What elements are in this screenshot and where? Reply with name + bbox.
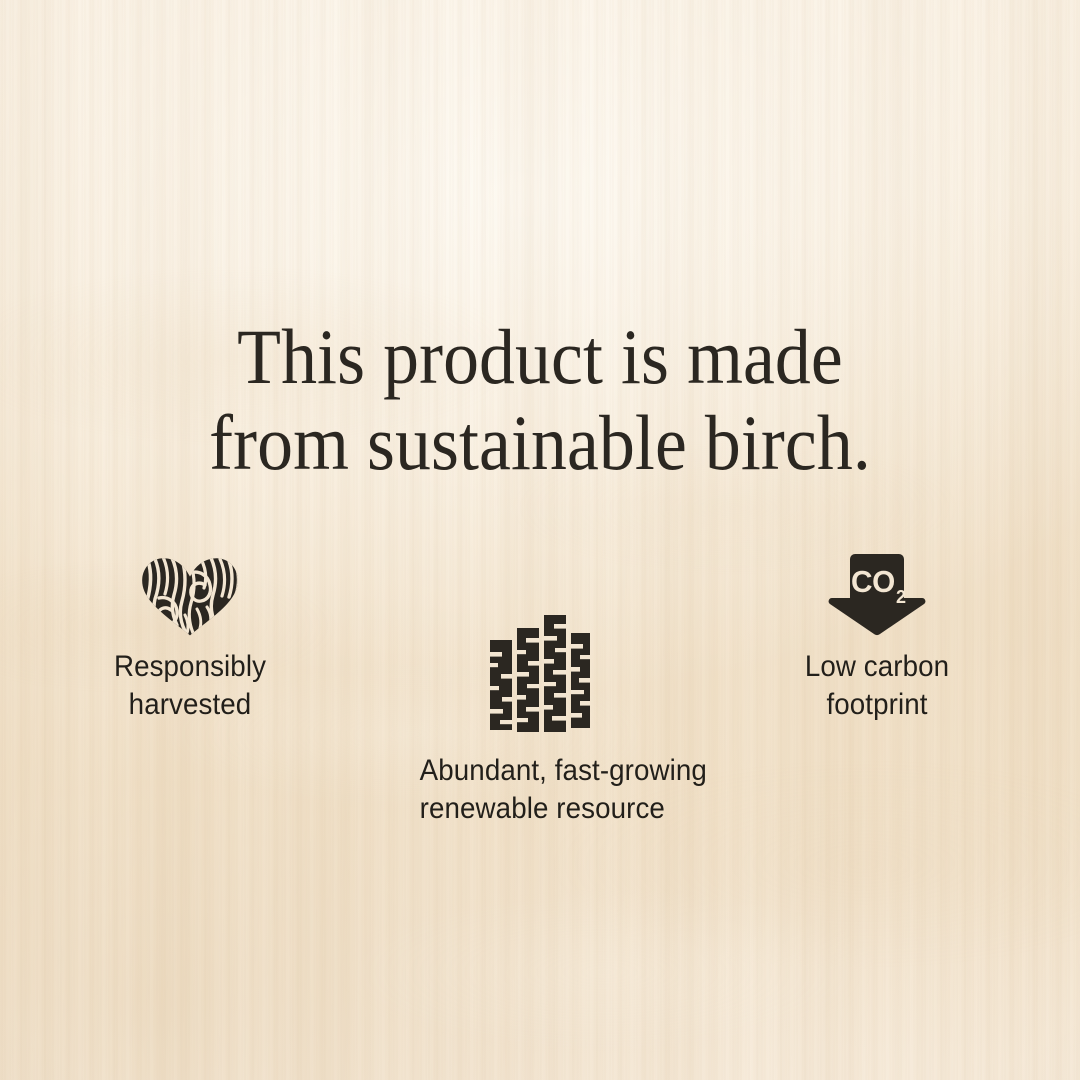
headline-line-1: This product is made xyxy=(43,314,1037,400)
headline-line-2: from sustainable birch. xyxy=(43,400,1037,486)
feature-row: Responsibly harvested xyxy=(0,540,1080,860)
co2-main-text: CO xyxy=(851,564,895,599)
feature-label: Low carbon footprint xyxy=(757,648,998,725)
feature-label-line-1: Responsibly xyxy=(70,648,311,686)
headline: This product is made from sustainable bi… xyxy=(43,314,1037,486)
co2-down-arrow-icon: CO 2 xyxy=(828,554,926,636)
feature-responsibly-harvested: Responsibly harvested xyxy=(62,540,318,725)
birch-trunks-icon xyxy=(488,614,592,732)
feature-icon-slot xyxy=(62,540,318,636)
feature-label-line-2: footprint xyxy=(757,686,998,724)
co2-subscript-text: 2 xyxy=(896,587,906,607)
feature-label-line-1: Abundant, fast-growing xyxy=(420,752,661,790)
feature-low-carbon-footprint: CO 2 Low carbon footprint xyxy=(749,540,1005,725)
feature-renewable-resource: Abundant, fast-growing renewable resourc… xyxy=(412,540,668,829)
feature-icon-slot xyxy=(412,612,668,732)
feature-icon-slot: CO 2 xyxy=(749,540,1005,636)
feature-label-line-2: harvested xyxy=(70,686,311,724)
birch-plywood-card: This product is made from sustainable bi… xyxy=(0,0,1080,1080)
feature-label: Abundant, fast-growing renewable resourc… xyxy=(420,752,661,829)
card-content: This product is made from sustainable bi… xyxy=(0,0,1080,1080)
feature-label: Responsibly harvested xyxy=(70,648,311,725)
feature-label-line-2: renewable resource xyxy=(420,790,661,828)
feature-label-line-1: Low carbon xyxy=(757,648,998,686)
wood-grain-heart-icon xyxy=(141,557,239,636)
